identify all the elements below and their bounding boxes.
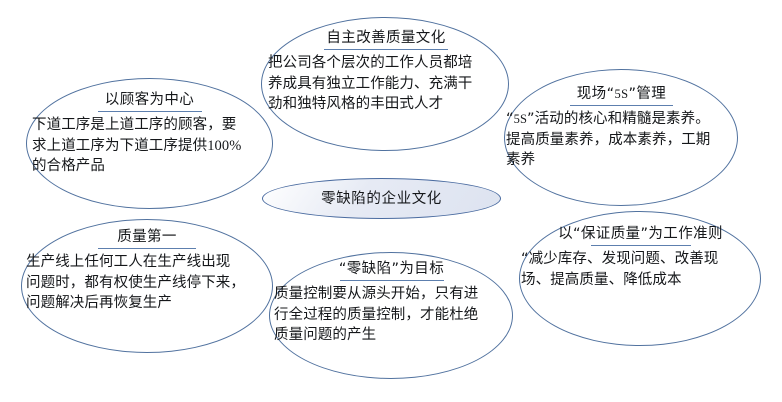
body-line: ”活动的核心和精髓是素养。 [527,111,710,127]
node-assure-quality-principle-body: “减少库存、发现问题、改善现 场、提高质量、降低成本 [521,249,760,290]
ellipse-center-zero-defect-culture[interactable]: 零缺陷的企业文化 [262,178,501,219]
node-autonomous-improvement-text: 自主改善质量文化 把公司各个层次的工作人员都培 养成具有独立工作能力、充满干 劲… [268,28,504,115]
node-onsite-5s-management-body: “5S”活动的核心和精髓是素养。 提高质量素养，成本素养，工期 素养 [506,109,737,171]
node-customer-focus-body: 下道工序是上道工序的顾客，要 求上道工序为下道工序提供100% 的合格产品 [32,115,267,177]
title-underline [324,49,448,50]
node-assure-quality-principle-text: 以“保证质量”为工作准则 “减少库存、发现问题、改善现 场、提高质量、降低成本 [521,224,760,290]
node-zero-defect-goal-text: “零缺陷”为目标 质量控制要从源头开始，只有进 行全过程的质量控制，才能杜绝 质… [274,259,509,346]
node-onsite-5s-management-title: 现场“5S”管理 [506,84,737,104]
node-assure-quality-principle-title: 以“保证质量”为工作准则 [521,224,760,244]
body-line: “减少库存、发现问题、改善现 [521,251,718,267]
body-line: 养成具有独立工作能力、充满干 [268,76,472,92]
title-underline [98,248,196,249]
body-line: 下道工序是上道工序的顾客，要 [32,117,236,133]
title-underline [340,280,444,281]
title-mark-5s: 5S [614,87,628,101]
body-line: 问题解决后再恢复生产 [26,295,172,311]
body-line: 劲和独特风格的丰田式人才 [268,96,443,112]
node-quality-first-body: 生产线上任何工人在生产线出现 问题时，都有权使生产线停下来， 问题解决后再恢复生… [26,252,268,314]
diagram-canvas: 以顾客为中心 下道工序是上道工序的顾客，要 求上道工序为下道工序提供100% 的… [0,0,782,402]
body-line: 提高质量素养，成本素养，工期 [506,132,710,148]
body-line: 生产线上任何工人在生产线出现 [26,254,230,270]
body-line: 质量问题的产生 [274,327,376,343]
body-line: 把公司各个层次的工作人员都培 [268,55,472,71]
body-line: 问题时，都有权使生产线停下来， [26,275,245,291]
body-line: 素养 [506,152,535,168]
node-quality-first-title: 质量第一 [26,227,268,247]
center-node-label: 零缺陷的企业文化 [263,189,500,209]
title-suffix: ”管理 [629,86,667,102]
body-mark-5s: 5S [514,112,527,126]
node-zero-defect-goal-title: “零缺陷”为目标 [274,259,509,279]
node-customer-focus-text: 以顾客为中心 下道工序是上道工序的顾客，要 求上道工序为下道工序提供100% 的… [32,90,267,177]
node-autonomous-improvement-title: 自主改善质量文化 [268,28,504,48]
body-line: 求上道工序为下道工序提供 [32,138,207,154]
node-customer-focus-title: 以顾客为中心 [32,90,267,110]
node-onsite-5s-management-text: 现场“5S”管理 “5S”活动的核心和精髓是素养。 提高质量素养，成本素养，工期… [506,84,737,171]
body-line: 行全过程的质量控制，才能杜绝 [274,307,478,323]
body-line: 的合格产品 [32,158,105,174]
node-zero-defect-goal-body: 质量控制要从源头开始，只有进 行全过程的质量控制，才能杜绝 质量问题的产生 [274,284,509,346]
title-underline [570,105,673,106]
body-prefix: “ [506,111,514,127]
body-inline-number: 100% [207,138,241,154]
title-prefix: 现场“ [577,86,615,102]
title-underline [591,245,691,246]
node-quality-first-text: 质量第一 生产线上任何工人在生产线出现 问题时，都有权使生产线停下来， 问题解决… [26,227,268,314]
body-line: 场、提高质量、降低成本 [521,272,682,288]
title-underline [98,111,202,112]
body-line: 质量控制要从源头开始，只有进 [274,286,478,302]
node-autonomous-improvement-body: 把公司各个层次的工作人员都培 养成具有独立工作能力、充满干 劲和独特风格的丰田式… [268,53,504,115]
